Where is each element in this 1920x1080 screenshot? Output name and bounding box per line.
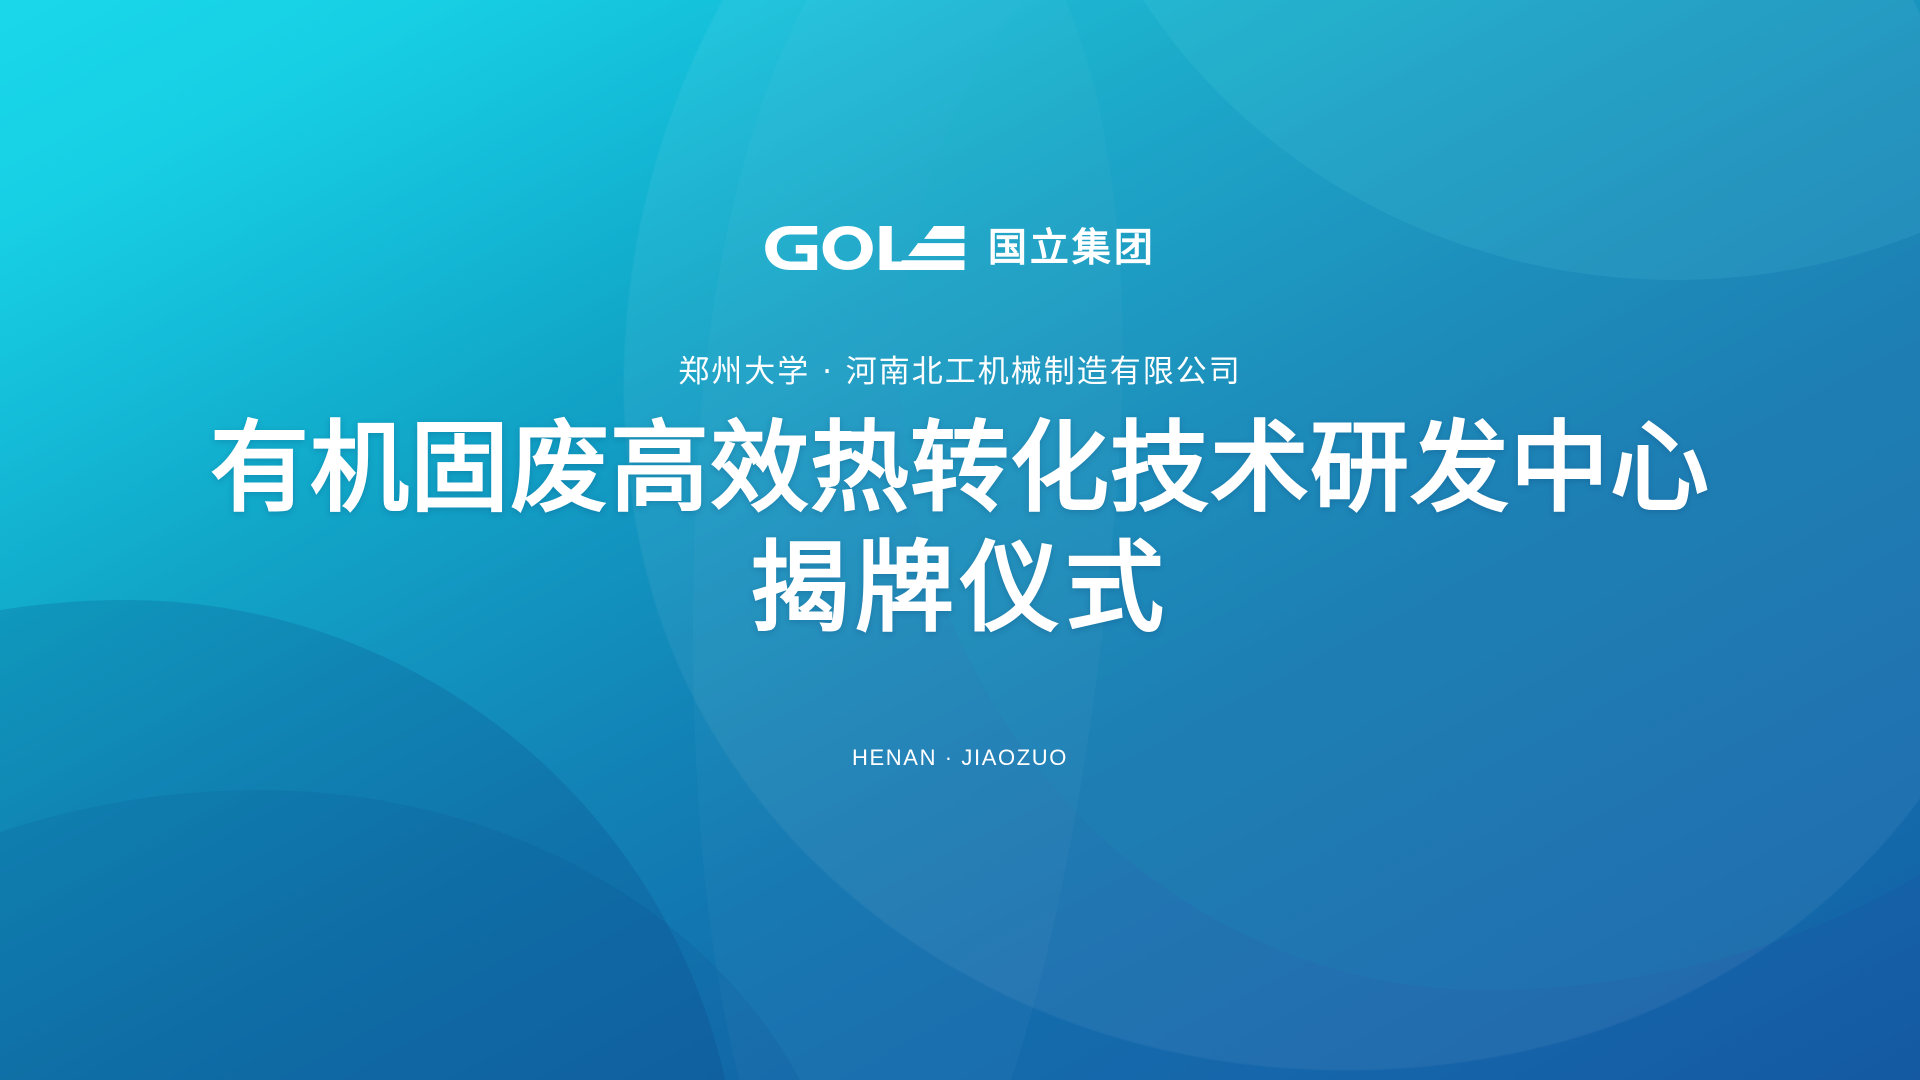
partner-organizations: 郑州大学 · 河南北工机械制造有限公司	[678, 346, 1242, 391]
page-title: 有机固废高效热转化技术研发中心 揭牌仪式	[210, 409, 1710, 649]
brand-logo: 国立集团	[764, 222, 1156, 274]
page-title-line-2: 揭牌仪式	[210, 529, 1710, 649]
gole-wordmark-icon	[764, 226, 966, 270]
logo-chinese-name: 国立集团	[988, 229, 1156, 268]
page-title-line-1: 有机固废高效热转化技术研发中心	[210, 409, 1710, 529]
title-slide: 国立集团 郑州大学 · 河南北工机械制造有限公司 有机固废高效热转化技术研发中心…	[0, 0, 1920, 1080]
location-label: HENAN · JIAOZUO	[852, 745, 1068, 771]
slide-content: 国立集团 郑州大学 · 河南北工机械制造有限公司 有机固废高效热转化技术研发中心…	[0, 0, 1920, 1080]
